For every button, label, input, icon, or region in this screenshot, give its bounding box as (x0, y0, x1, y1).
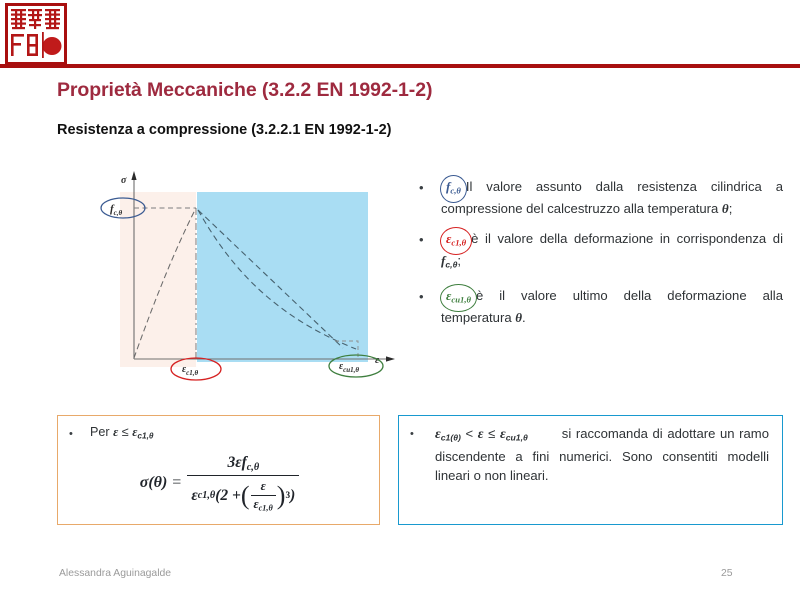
footer-page-number: 25 (721, 568, 733, 579)
chart-region-ascending (120, 192, 196, 367)
header-divider-rule (0, 64, 800, 68)
symbol-fc-theta: fc,θ (441, 178, 466, 200)
seal-logo (5, 3, 67, 65)
definition-text: è il valore ultimo della deformazione al… (441, 288, 783, 325)
definition-text: è il valore della deformazione in corris… (471, 231, 783, 246)
definition-text-after: . (522, 310, 526, 325)
condition-relation: ≤ (118, 425, 132, 439)
bullet-glyph: • (69, 428, 73, 440)
range-less-equal: ≤ (484, 426, 500, 441)
footer-author: Alessandra Aguinagalde (59, 568, 171, 579)
numerator-f-subscript: c,θ (247, 462, 259, 473)
denominator-inner-fraction: εεc1,θ (251, 479, 276, 512)
denominator-right-paren: ) (277, 485, 286, 506)
list-item: • εc1,θ è il valore della deformazione i… (415, 230, 783, 274)
formula-equation: σ(θ) = 3εfc,θ εc1,θ(2 + (εεc1,θ)3) (58, 454, 381, 513)
list-item: • fc,θ Il valore assunto dalla resistenz… (415, 178, 783, 217)
formula-condition: Per ε ≤ εc1,θ (90, 425, 154, 440)
definition-text-after: ; (457, 253, 461, 268)
range-less-than: < (461, 426, 478, 441)
equation-denominator: εc1,θ(2 + (εεc1,θ)3) (187, 476, 299, 512)
symbol-subscript: c,θ (450, 185, 460, 195)
denominator-open: (2 + (215, 487, 241, 505)
bullet-glyph: • (419, 231, 424, 249)
svg-text:εcu1,θ: εcu1,θ (339, 361, 359, 374)
symbol-subscript: c1,θ (451, 238, 466, 248)
condition-prefix: Per (90, 425, 113, 439)
bullet-glyph: • (419, 288, 424, 306)
bullet-glyph: • (419, 179, 424, 197)
equation-equals: = (172, 474, 181, 492)
symbol-subscript: cu1,θ (451, 295, 471, 305)
range-eps-cu1-subscript: cu1,θ (506, 432, 528, 442)
equation-inline: σ(θ) = 3εfc,θ εc1,θ(2 + (εεc1,θ)3) (140, 454, 300, 513)
range-eps-c1-subscript: c1(θ) (441, 432, 461, 442)
formula-box: • Per ε ≤ εc1,θ σ(θ) = 3εfc,θ εc1,θ(2 + … (57, 415, 380, 525)
page-title: Proprietà Meccaniche (3.2.2 EN 1992-1-2) (57, 79, 432, 102)
range-recommendation-box: • εc1(θ) < ε ≤ εcu1,θsi raccomanda di ad… (398, 415, 783, 525)
symbol-eps-c1-theta: εc1,θ (441, 230, 471, 252)
slide-canvas: Proprietà Meccaniche (3.2.2 EN 1992-1-2)… (0, 0, 800, 600)
condition-eps-c1-subscript: c1,θ (137, 430, 153, 440)
chart-y-axis-arrow (131, 171, 136, 180)
stress-strain-svg: σ ε fc,θ εc1,θ (100, 163, 400, 406)
inner-denominator-subscript: c1,θ (259, 504, 273, 513)
equation-lhs: σ(θ) (140, 474, 168, 492)
range-text: εc1(θ) < ε ≤ εcu1,θsi raccomanda di adot… (435, 424, 769, 485)
list-item: • εcu1,θ è il valore ultimo della deform… (415, 287, 783, 326)
definition-tail-subscript: c,θ (445, 260, 457, 270)
equation-fraction: 3εfc,θ εc1,θ(2 + (εεc1,θ)3) (187, 454, 299, 513)
denominator-close: ) (290, 487, 295, 505)
stress-strain-chart: σ ε fc,θ εc1,θ (100, 163, 400, 406)
chart-region-descending (197, 192, 368, 362)
seal-logo-glyphs (8, 6, 64, 62)
equation-numerator: 3εfc,θ (221, 454, 265, 475)
inner-numerator: ε (258, 479, 269, 495)
denominator-left-paren: ( (241, 485, 250, 506)
bullet-glyph: • (410, 428, 414, 440)
inner-denominator: εc1,θ (251, 496, 276, 512)
chart-y-axis-label: σ (121, 175, 127, 186)
page-subtitle: Resistenza a compressione (3.2.2.1 EN 19… (57, 122, 391, 138)
definition-text-after: ; (729, 201, 733, 216)
definitions-list: • fc,θ Il valore assunto dalla resistenz… (415, 178, 783, 340)
definition-tail-symbol: θ (722, 201, 729, 216)
denominator-eps-subscript: c1,θ (198, 490, 216, 501)
symbol-eps-cu1-theta: εcu1,θ (441, 287, 476, 309)
definition-tail-symbol: θ (515, 310, 522, 325)
chart-x-axis-arrow (386, 356, 395, 361)
